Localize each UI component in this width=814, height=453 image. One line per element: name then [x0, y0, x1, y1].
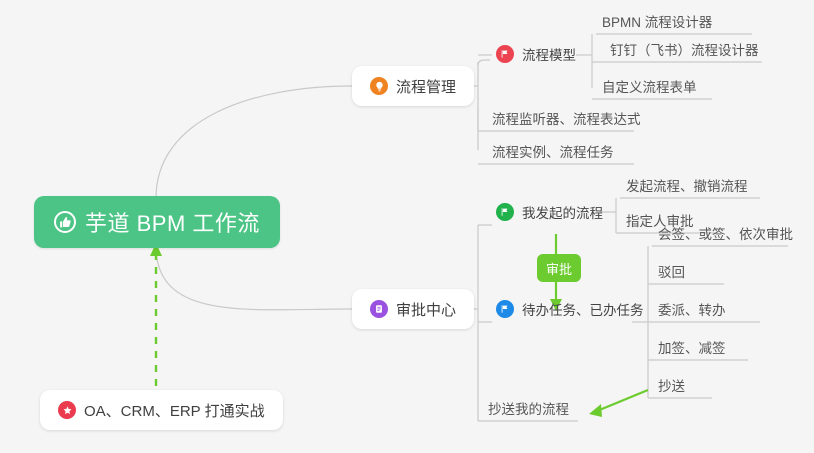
leaf-carbon-copy[interactable]: 抄送 [654, 372, 689, 398]
lightbulb-icon [370, 77, 388, 95]
leaf-listener-expression[interactable]: 流程监听器、流程表达式 [488, 105, 645, 131]
flag-green-icon [496, 203, 514, 221]
arrow-cc-to-ccme [597, 390, 648, 411]
branch-process-management[interactable]: 流程管理 [352, 66, 474, 106]
branch-approval-center[interactable]: 审批中心 [352, 289, 474, 329]
wire-root-to-process-management [156, 86, 352, 198]
root-label: 芋道 BPM 工作流 [85, 206, 260, 238]
badge-label: 审批 [546, 259, 572, 278]
leaf-label: 钉钉（飞书）流程设计器 [610, 39, 759, 59]
leaf-label: 流程实例、流程任务 [492, 141, 614, 161]
leaf-start-cancel-process[interactable]: 发起流程、撤销流程 [622, 172, 752, 198]
node-label: OA、CRM、ERP 打通实战 [84, 400, 265, 421]
node-label: 我发起的流程 [522, 202, 603, 222]
approval-badge: 审批 [537, 254, 581, 282]
leaf-dingtalk-feishu-designer[interactable]: 钉钉（飞书）流程设计器 [606, 36, 763, 62]
leaf-label: 抄送我的流程 [488, 398, 569, 418]
leaf-label: 委派、转办 [658, 299, 726, 319]
leaf-countersign[interactable]: 会签、或签、依次审批 [654, 220, 797, 246]
branch-label: 审批中心 [396, 299, 456, 320]
leaf-delegate-transfer[interactable]: 委派、转办 [654, 296, 730, 322]
leaf-add-remove-sign[interactable]: 加签、减签 [654, 334, 730, 360]
branch-label: 流程管理 [396, 76, 456, 97]
leaf-custom-process-form[interactable]: 自定义流程表单 [598, 73, 701, 99]
leaf-bpmn-designer[interactable]: BPMN 流程设计器 [598, 8, 716, 34]
arrowhead-cc-to-ccme [589, 404, 602, 417]
node-todo-done-task[interactable]: 待办任务、已办任务 [492, 296, 648, 322]
leaf-label: 自定义流程表单 [602, 76, 697, 96]
leaf-label: 发起流程、撤销流程 [626, 175, 748, 195]
leaf-instance-task[interactable]: 流程实例、流程任务 [488, 138, 618, 164]
leaf-label: 加签、减签 [658, 337, 726, 357]
node-process-model[interactable]: 流程模型 [492, 41, 580, 67]
thumbs-up-icon [54, 211, 76, 233]
wire-pm-corner-top [478, 60, 490, 66]
clipboard-purple-icon [370, 300, 388, 318]
node-label: 流程模型 [522, 44, 576, 64]
leaf-label: 流程监听器、流程表达式 [492, 108, 641, 128]
leaf-label: 抄送 [658, 375, 685, 395]
leaf-cc-to-me-process[interactable]: 抄送我的流程 [484, 395, 573, 421]
mindmap-canvas: 芋道 BPM 工作流 流程管理 流程模型 BPMN 流程设计器 钉钉（飞书）流程… [0, 0, 814, 453]
root-node[interactable]: 芋道 BPM 工作流 [34, 196, 280, 248]
node-label: 待办任务、已办任务 [522, 299, 644, 319]
star-red-icon [58, 401, 76, 419]
wire-root-to-approval-center [156, 246, 352, 310]
leaf-reject[interactable]: 驳回 [654, 258, 689, 284]
flag-blue-icon [496, 300, 514, 318]
leaf-label: 驳回 [658, 261, 685, 281]
leaf-label: BPMN 流程设计器 [602, 11, 712, 31]
node-integration-practice[interactable]: OA、CRM、ERP 打通实战 [40, 390, 283, 430]
flag-red-icon [496, 45, 514, 63]
leaf-label: 会签、或签、依次审批 [658, 223, 793, 243]
node-my-started-process[interactable]: 我发起的流程 [492, 199, 607, 225]
